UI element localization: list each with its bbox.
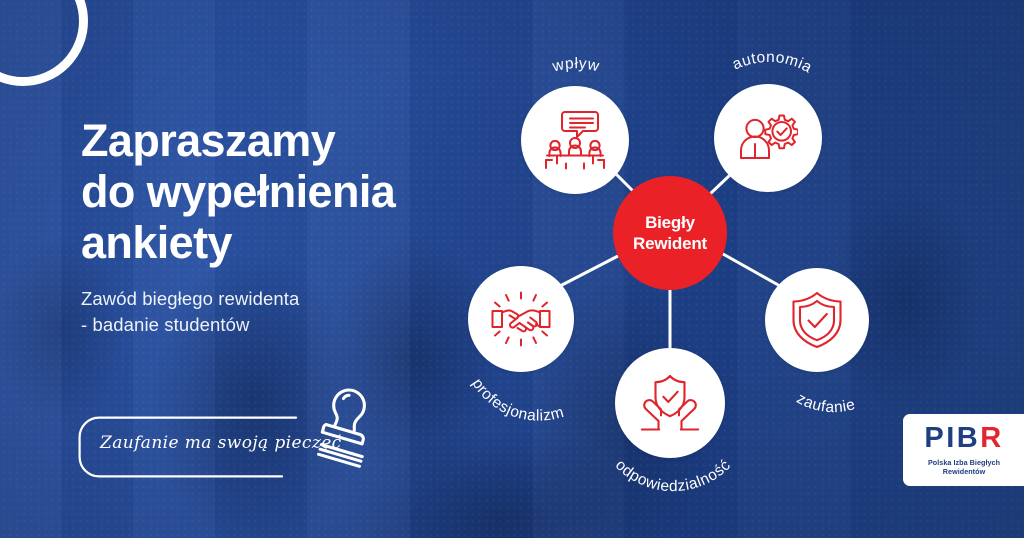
page-title: Zapraszamy do wypełnienia ankiety [81, 116, 501, 269]
shield-check-icon [790, 291, 844, 349]
meeting-table-speech-bubble-icon [544, 110, 606, 170]
value-wheel-diagram: wpływ autonomia [455, 18, 910, 518]
tagline-text: Zaufanie ma swoją pieczęć [100, 433, 314, 453]
handshake-icon [490, 291, 552, 347]
svg-text:wpływ: wpływ [550, 55, 601, 75]
svg-text:autonomia: autonomia [730, 49, 815, 77]
node-label-autonomia: autonomia [689, 24, 849, 108]
svg-text:zaufanie: zaufanie [794, 390, 857, 416]
node-label-text: odpowiedzialność [612, 457, 734, 496]
svg-text:profesjonalizm: profesjonalizm [468, 376, 566, 425]
node-label-text: zaufanie [794, 390, 857, 416]
poster-canvas: Zapraszamy do wypełnienia ankiety Zawód … [0, 0, 1024, 538]
node-label-wplyw: wpływ [501, 26, 651, 106]
page-subtitle: Zawód biegłego rewidenta - badanie stude… [81, 286, 501, 339]
diagram-center-node[interactable]: Biegły Rewident [613, 176, 727, 290]
logo-wordmark: P I B R [924, 424, 1003, 453]
person-gear-check-icon [738, 112, 798, 164]
node-label-text: wpływ [550, 55, 601, 75]
node-label-profesjonalizm: profesjonalizm [453, 348, 607, 434]
logo-letter-r: R [980, 424, 1003, 453]
node-label-text: profesjonalizm [468, 376, 566, 425]
logo-letter-p: P [924, 424, 946, 453]
svg-text:odpowiedzialność: odpowiedzialność [612, 457, 734, 496]
logo-letter-b: B [957, 424, 980, 453]
node-zaufanie[interactable] [765, 268, 869, 372]
pibr-logo: P I B R Polska Izba Biegłych Rewidentów [903, 414, 1024, 486]
logo-letter-i: I [946, 424, 957, 453]
node-label-text: autonomia [730, 49, 815, 77]
node-label-zaufanie: zaufanie [761, 366, 901, 436]
hands-holding-shield-icon [639, 374, 701, 432]
node-label-odpowiedzialnosc: odpowiedzialność [595, 442, 751, 526]
rubber-stamp-icon [288, 384, 384, 482]
logo-subtitle: Polska Izba Biegłych Rewidentów [912, 458, 1016, 477]
center-label-line1: Biegły [633, 212, 707, 233]
center-label-line2: Rewident [633, 233, 707, 254]
